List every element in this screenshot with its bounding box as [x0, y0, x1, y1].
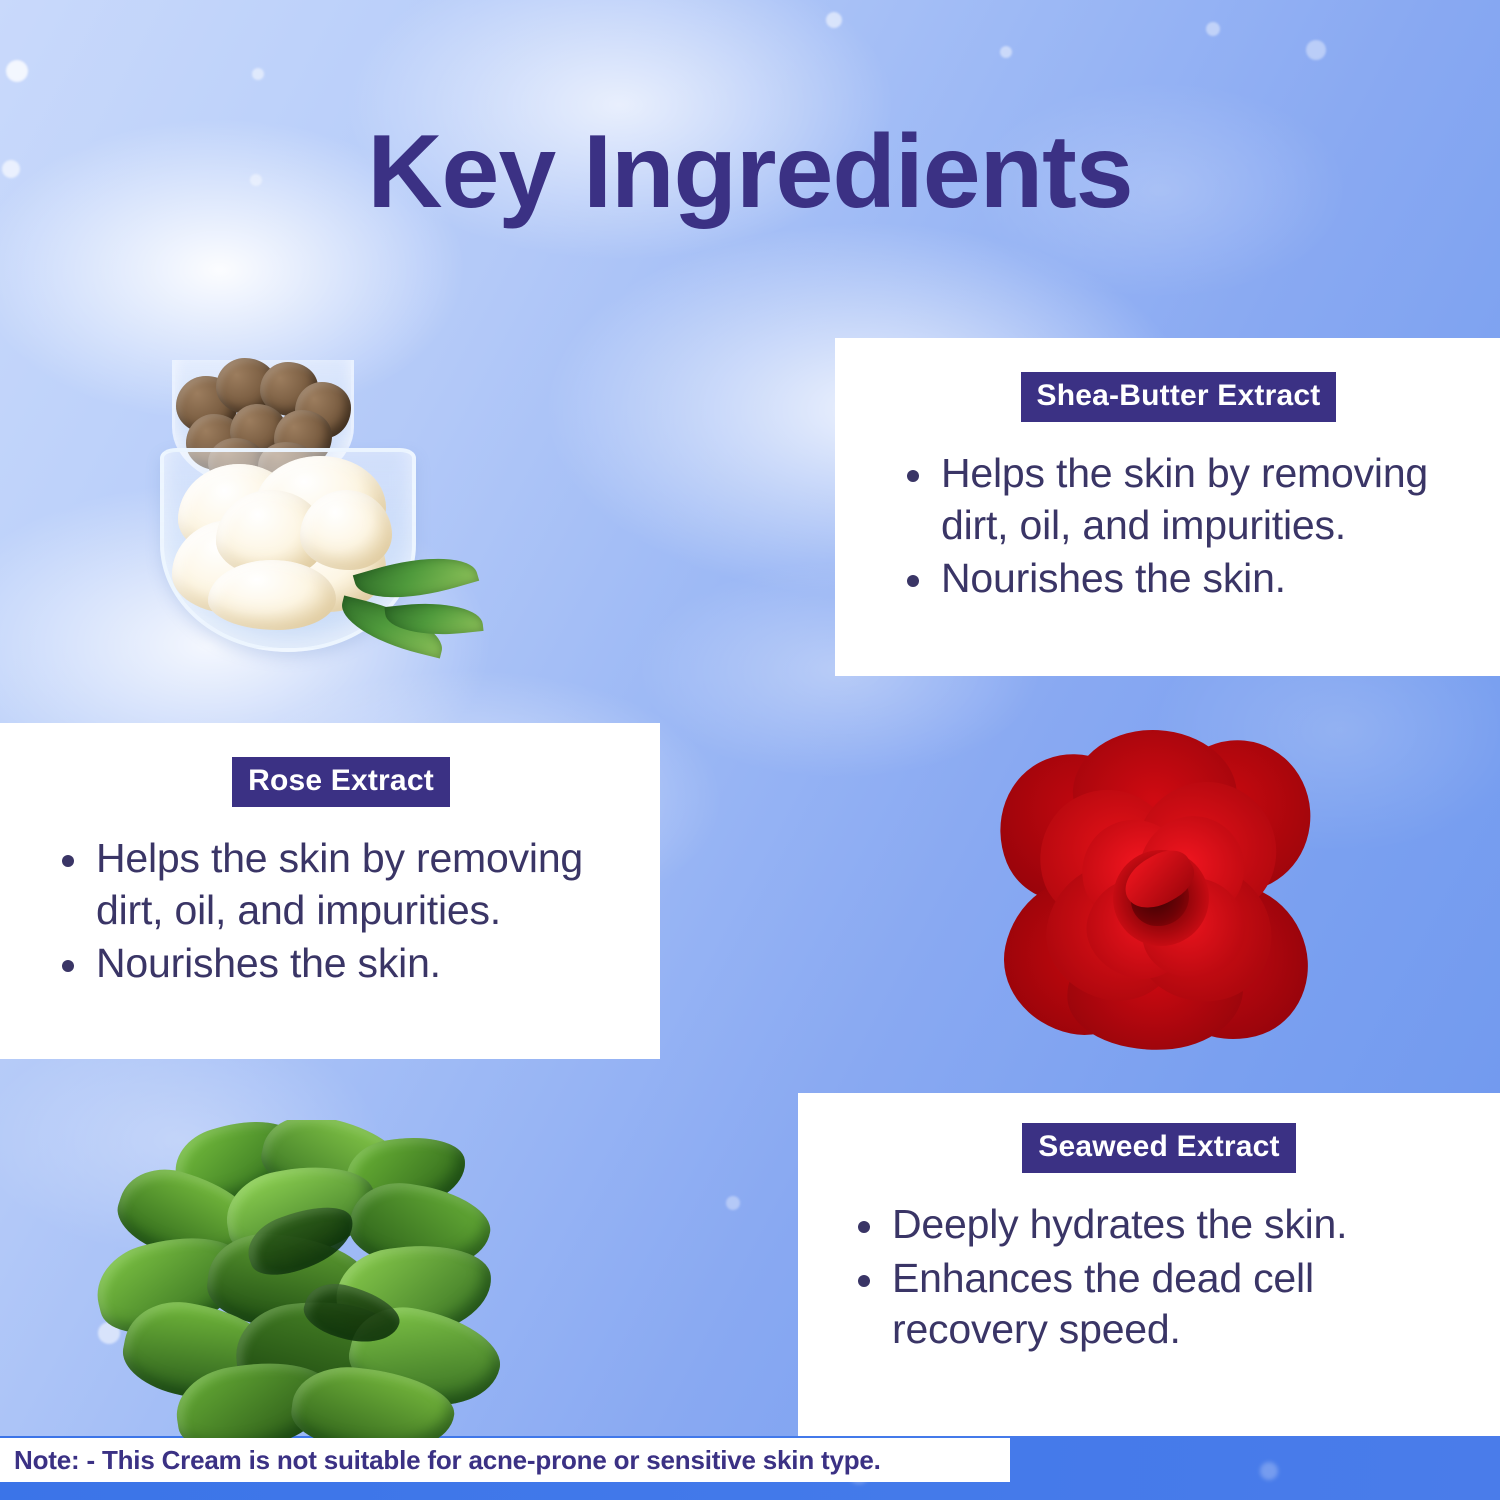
list-item: Nourishes the skin.: [897, 553, 1460, 605]
bullet-list-seaweed: Deeply hydrates the skin. Enhances the d…: [848, 1199, 1470, 1356]
badge-row-rose: Rose Extract: [52, 757, 630, 807]
bullet-list-rose: Helps the skin by removing dirt, oil, an…: [52, 833, 630, 990]
note-bar: Note: - This Cream is not suitable for a…: [0, 1438, 1010, 1482]
list-item: Helps the skin by removing dirt, oil, an…: [52, 833, 630, 936]
badge-row-seaweed: Seaweed Extract: [848, 1123, 1470, 1173]
bullet-list-shea-butter: Helps the skin by removing dirt, oil, an…: [897, 448, 1460, 605]
ingredient-badge-shea-butter: Shea-Butter Extract: [1021, 372, 1337, 422]
rose-image: [995, 728, 1315, 1053]
list-item: Nourishes the skin.: [52, 938, 630, 990]
infographic-root: Key Ingredients: [0, 0, 1500, 1500]
list-item: Helps the skin by removing dirt, oil, an…: [897, 448, 1460, 551]
ingredient-card-seaweed: Seaweed Extract Deeply hydrates the skin…: [798, 1093, 1500, 1436]
list-item: Deeply hydrates the skin.: [848, 1199, 1470, 1251]
badge-row-shea-butter: Shea-Butter Extract: [897, 372, 1460, 422]
list-item: Enhances the dead cell recovery speed.: [848, 1253, 1470, 1356]
note-text: Note: - This Cream is not suitable for a…: [14, 1445, 881, 1476]
ingredient-badge-seaweed: Seaweed Extract: [1022, 1123, 1295, 1173]
seaweed-image: [78, 1120, 528, 1438]
page-title: Key Ingredients: [0, 118, 1500, 227]
ingredient-badge-rose: Rose Extract: [232, 757, 450, 807]
shea-butter-image: [150, 352, 480, 682]
ingredient-card-shea-butter: Shea-Butter Extract Helps the skin by re…: [835, 338, 1500, 676]
ingredient-card-rose: Rose Extract Helps the skin by removing …: [0, 723, 660, 1059]
